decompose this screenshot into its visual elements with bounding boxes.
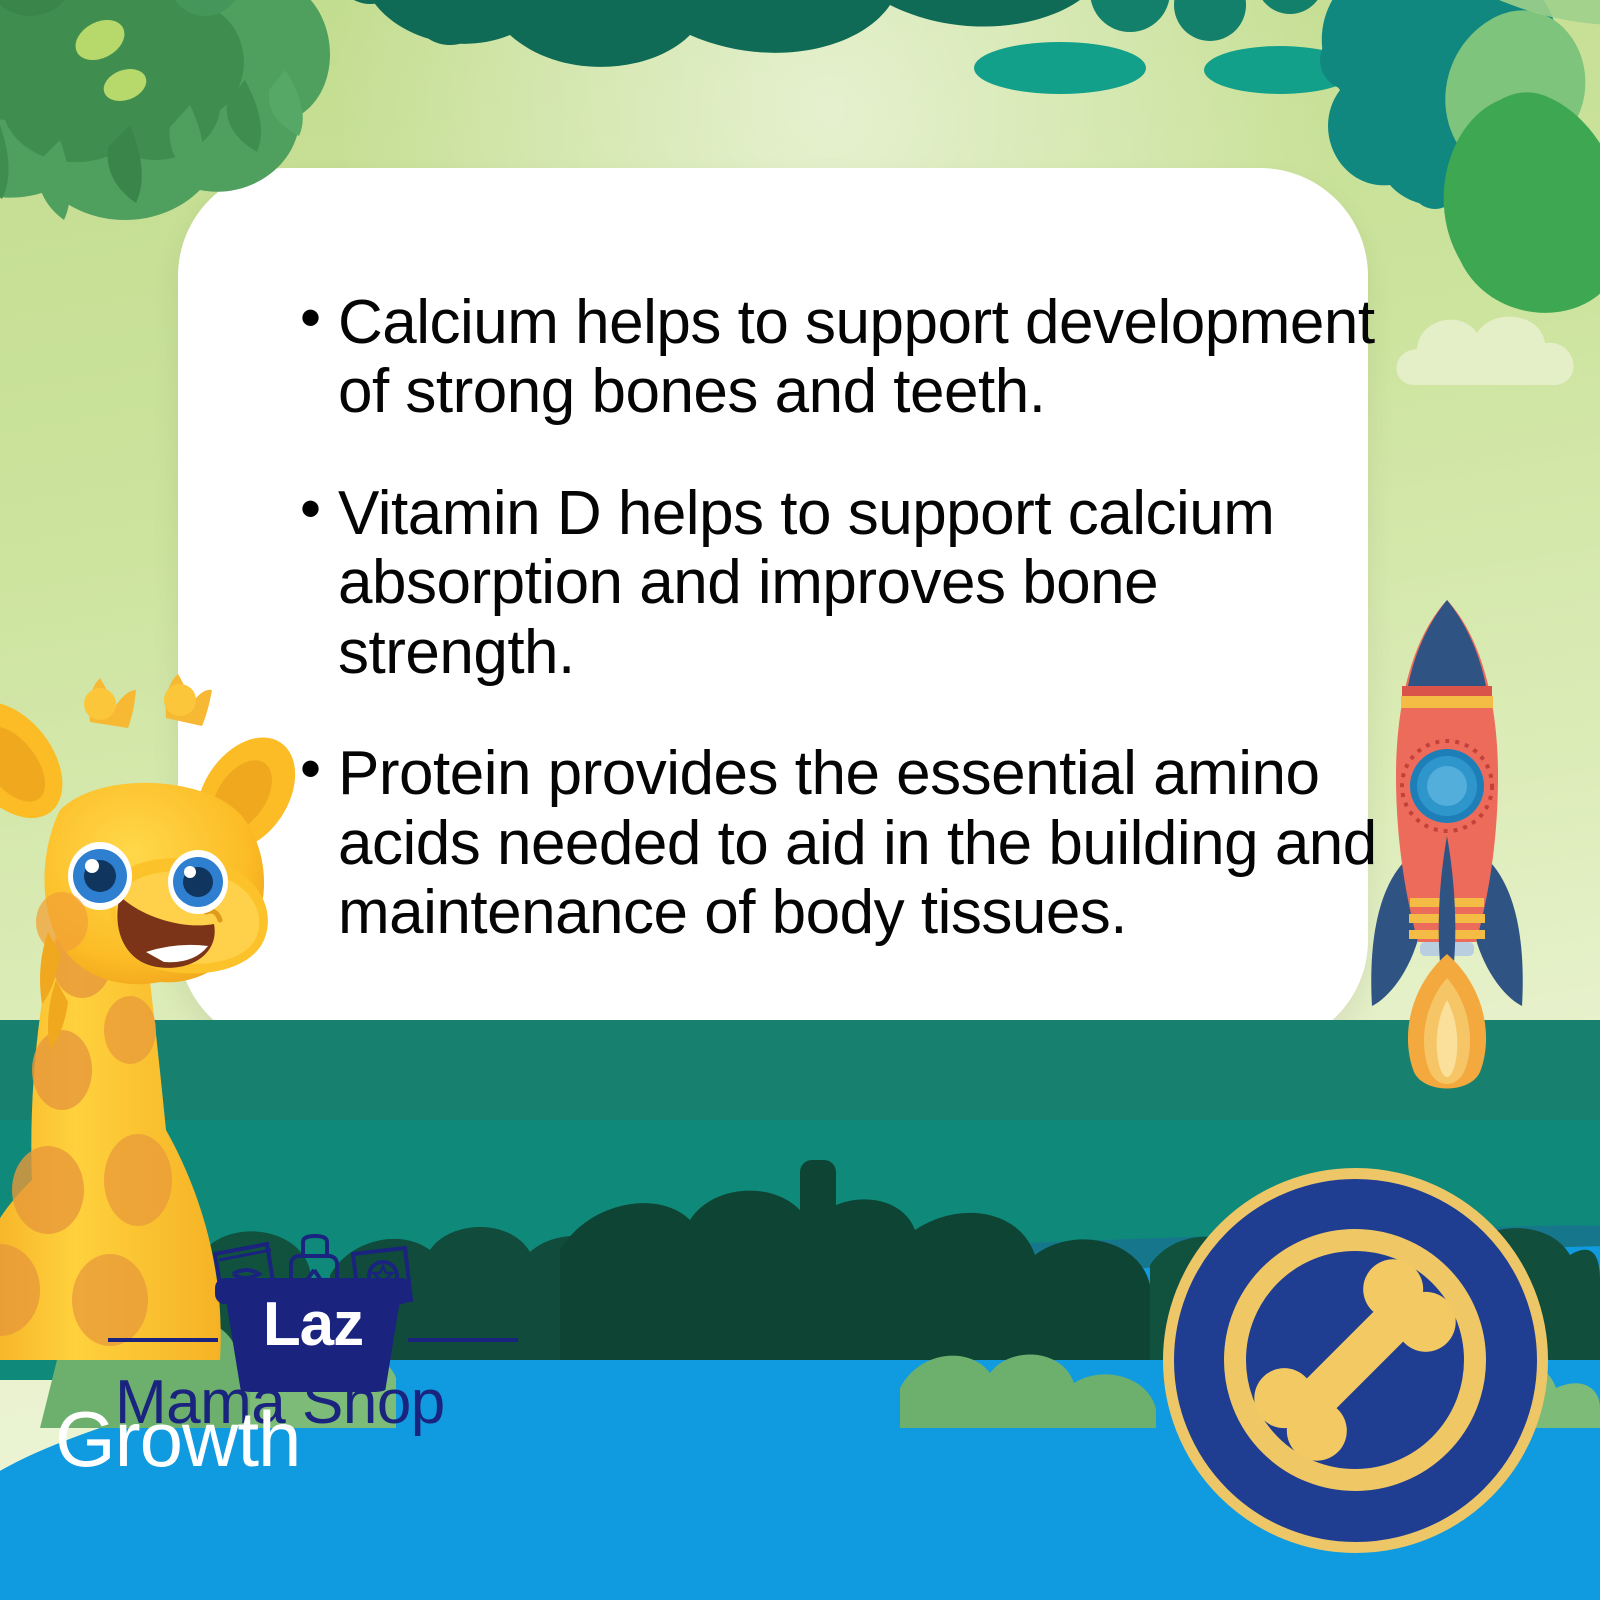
cloud-svg	[1395, 295, 1595, 405]
benefit-text-calcium: Calcium helps to support development of …	[338, 288, 1390, 427]
benefits-list: • Calcium helps to support development o…	[300, 288, 1390, 1000]
bullet-marker-icon: •	[300, 288, 338, 345]
list-item: • Protein provides the essential amino a…	[300, 739, 1390, 947]
tree-canopy-svg	[0, 0, 520, 330]
logo-rule-left	[108, 1338, 218, 1342]
logo-rule-right	[408, 1338, 518, 1342]
laz-mama-shop-logo[interactable]: Laz Mama Shop Growth	[60, 1232, 530, 1482]
bone-badge-svg	[1174, 1179, 1537, 1542]
laz-wordmark: Laz	[223, 1294, 403, 1356]
tree-canopy	[0, 0, 520, 330]
promo-graphic: • Calcium helps to support development o…	[0, 0, 1600, 1600]
list-item: • Calcium helps to support development o…	[300, 288, 1390, 427]
bullet-marker-icon: •	[300, 479, 338, 536]
growth-wordmark: Growth	[55, 1400, 455, 1478]
bone-badge	[1163, 1168, 1548, 1553]
list-item: • Vitamin D helps to support calcium abs…	[300, 479, 1390, 687]
bullet-marker-icon: •	[300, 739, 338, 796]
benefit-text-protein: Protein provides the essential amino aci…	[338, 739, 1390, 947]
cloud	[1395, 295, 1595, 405]
benefit-text-vitamin-d: Vitamin D helps to support calcium absor…	[338, 479, 1390, 687]
